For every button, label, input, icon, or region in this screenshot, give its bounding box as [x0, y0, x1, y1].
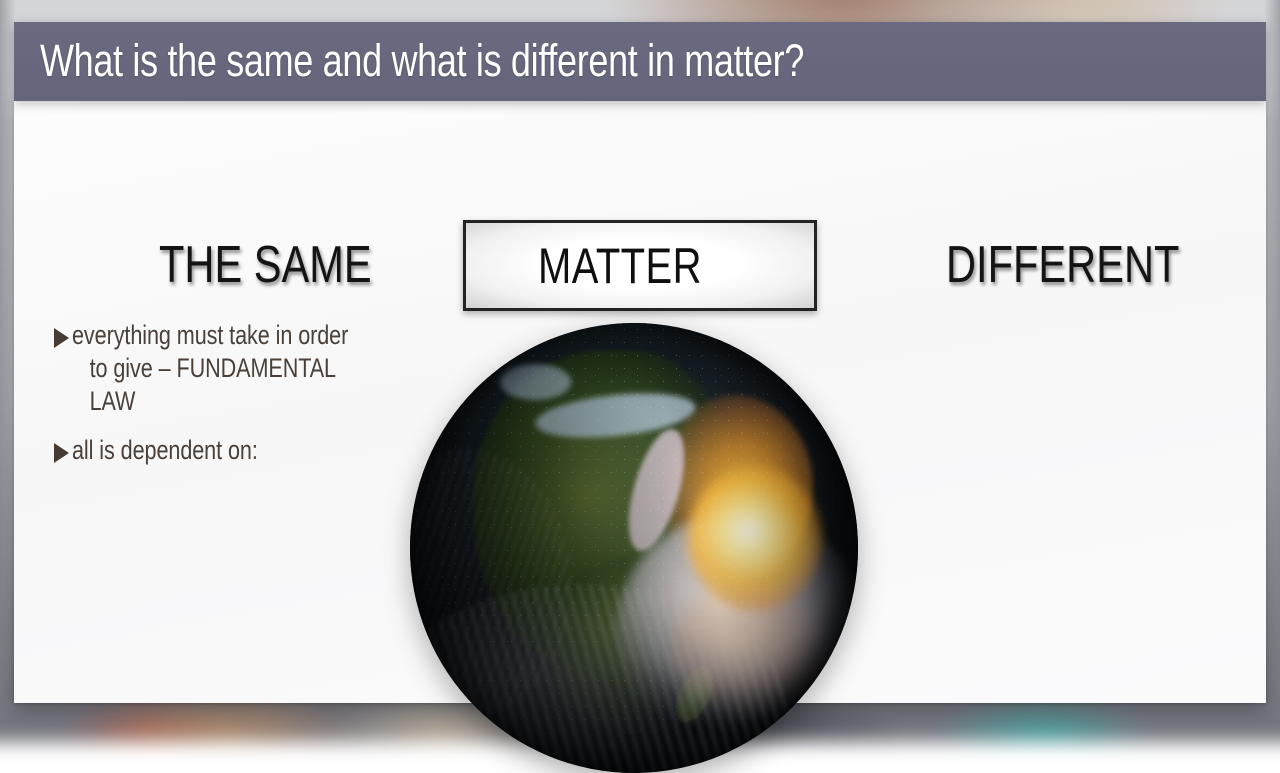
matter-label-box: MATTER: [463, 220, 817, 311]
slide-content-panel: THE SAME DIFFERENT MATTER everything mus…: [14, 101, 1266, 703]
list-item-line-1: everything must take in order: [72, 319, 378, 352]
column-heading-different-text: DIFFERENT: [946, 235, 1179, 295]
list-item-line-2: to give – FUNDAMENTAL LAW: [72, 352, 378, 418]
list-item-line-1: all is dependent on:: [72, 434, 258, 467]
page-title-text: What is the same and what is different i…: [40, 34, 804, 86]
list-item: all is dependent on:: [54, 434, 454, 467]
earth-globe-sphere: [410, 323, 858, 773]
list-item-text: all is dependent on:: [72, 434, 304, 467]
list-item-text: everything must take in order to give – …: [72, 319, 454, 418]
earth-globe-image: [410, 323, 858, 773]
the-same-bullet-list: everything must take in order to give – …: [54, 319, 454, 483]
matter-label-text: MATTER: [538, 237, 743, 295]
matter-label-value: MATTER: [538, 237, 702, 295]
column-heading-different: DIFFERENT: [946, 235, 1238, 295]
page-title: What is the same and what is different i…: [40, 34, 995, 86]
column-heading-the-same: THE SAME: [159, 235, 425, 295]
list-item: everything must take in order to give – …: [54, 319, 454, 418]
triangle-bullet-icon: [54, 443, 69, 463]
slide-title-bar: What is the same and what is different i…: [14, 22, 1266, 101]
globe-limb-vignette: [410, 323, 858, 773]
column-heading-the-same-text: THE SAME: [159, 235, 372, 295]
triangle-bullet-icon: [54, 328, 69, 348]
